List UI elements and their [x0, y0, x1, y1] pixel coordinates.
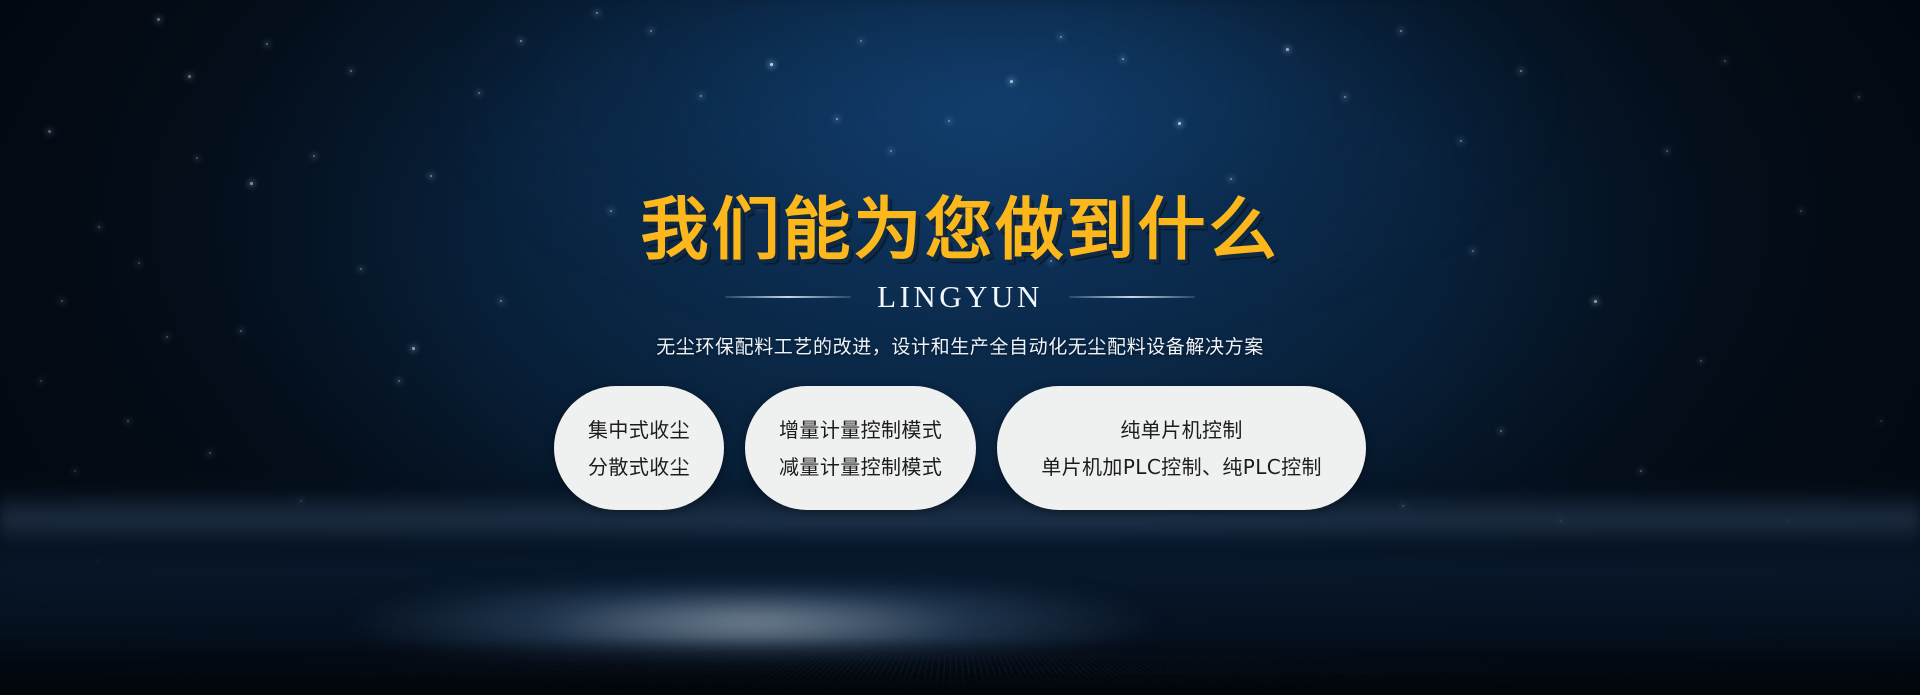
pill-line: 集中式收尘 — [588, 420, 690, 440]
ground-fade — [0, 637, 1920, 695]
brand-row: LINGYUN — [725, 279, 1195, 315]
pill-line: 纯单片机控制 — [1120, 420, 1242, 440]
divider-right — [1069, 296, 1195, 298]
feature-pill-list: 集中式收尘 分散式收尘 增量计量控制模式 减量计量控制模式 纯单片机控制 单片机… — [554, 386, 1366, 510]
banner-stage: 我们能为您做到什么 LINGYUN 无尘环保配料工艺的改进，设计和生产全自动化无… — [0, 0, 1920, 695]
feature-pill-dust-collection[interactable]: 集中式收尘 分散式收尘 — [554, 386, 724, 510]
pill-line: 单片机加PLC控制、纯PLC控制 — [1041, 457, 1322, 477]
feature-pill-metering-mode[interactable]: 增量计量控制模式 减量计量控制模式 — [745, 386, 976, 510]
feature-pill-control-system[interactable]: 纯单片机控制 单片机加PLC控制、纯PLC控制 — [997, 386, 1366, 510]
pill-line: 增量计量控制模式 — [779, 420, 942, 440]
banner-content: 我们能为您做到什么 LINGYUN 无尘环保配料工艺的改进，设计和生产全自动化无… — [0, 0, 1920, 510]
divider-left — [725, 296, 851, 298]
pill-line: 减量计量控制模式 — [779, 457, 942, 477]
page-title: 我们能为您做到什么 — [640, 196, 1279, 265]
brand-name: LINGYUN — [877, 279, 1043, 315]
banner-description: 无尘环保配料工艺的改进，设计和生产全自动化无尘配料设备解决方案 — [656, 332, 1264, 359]
pill-line: 分散式收尘 — [588, 457, 690, 477]
